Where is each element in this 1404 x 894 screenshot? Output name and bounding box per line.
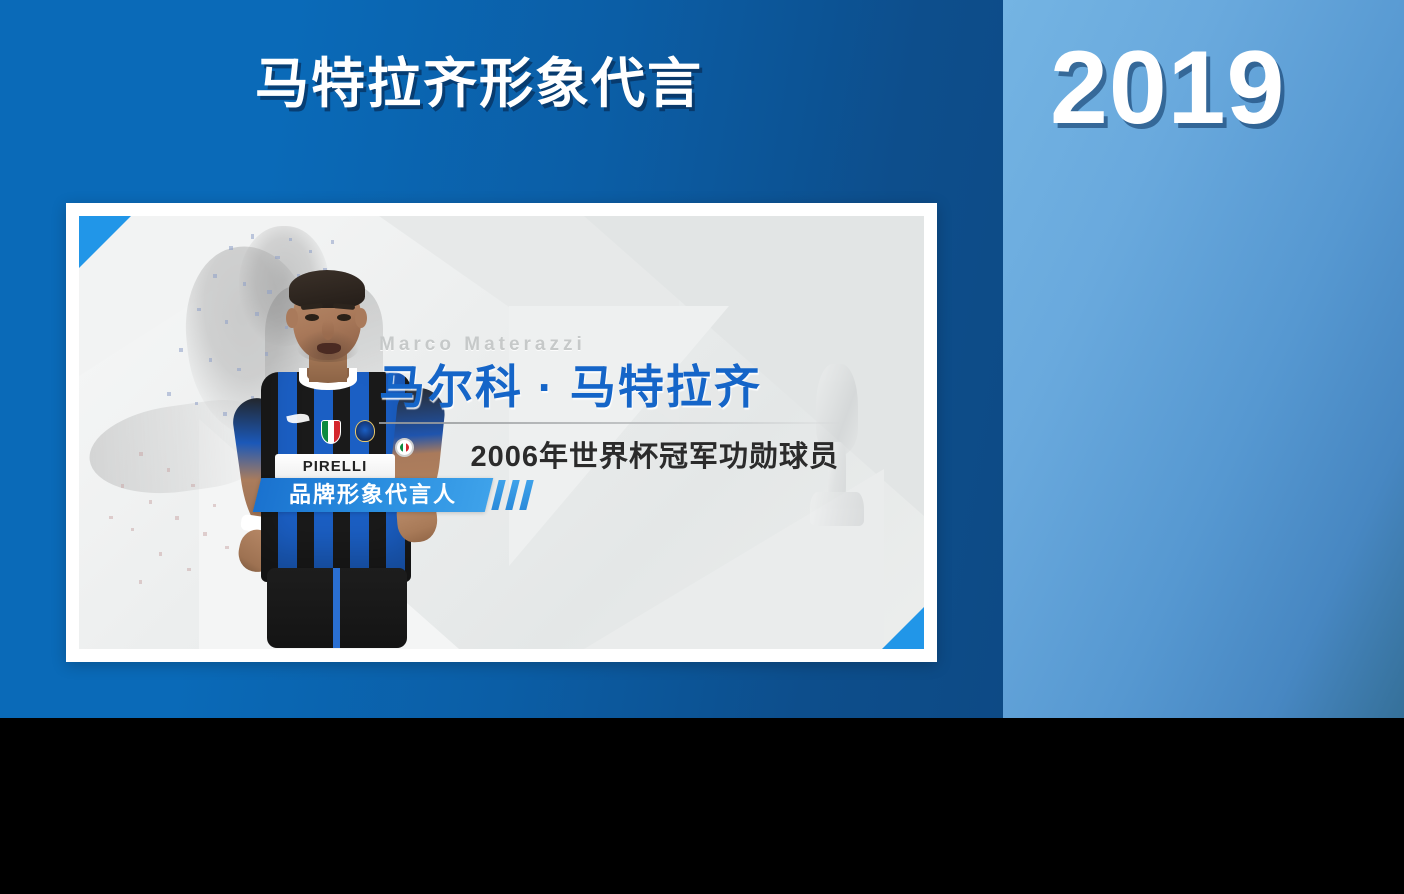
player-stubble — [297, 330, 359, 362]
player-eyebrow-left — [301, 303, 323, 310]
kit-brand-icon — [286, 412, 309, 425]
player-nose — [322, 320, 334, 340]
corner-accent-bottom-right-icon — [882, 607, 924, 649]
player-english-name: Marco Materazzi — [379, 334, 899, 356]
ribbon-slash-icon — [505, 480, 519, 510]
player-credential-subtitle: 2006年世界杯冠军功勋球员 — [379, 433, 839, 475]
player-eyebrow-right — [333, 303, 355, 310]
tagline-ribbon-group: 品牌形象代言人 — [257, 478, 577, 512]
player-ear-right — [355, 308, 367, 328]
player-shorts-stripe — [333, 568, 340, 648]
tagline-ribbon: 品牌形象代言人 — [253, 478, 493, 512]
ribbon-slash-icon — [519, 480, 533, 510]
ghost-figure-torso — [265, 286, 383, 466]
ribbon-slash-icon — [491, 480, 505, 510]
player-collar — [299, 368, 357, 390]
tagline-text: 品牌形象代言人 — [289, 478, 457, 512]
endorsement-image-card[interactable]: PIRELLI — [66, 203, 937, 662]
card-inner-canvas: PIRELLI — [79, 216, 924, 649]
jersey-sponsor-text: PIRELLI — [275, 454, 395, 480]
player-collar-inner — [307, 368, 349, 383]
year-label: 2019 — [1050, 36, 1285, 140]
trophy-base — [810, 492, 864, 526]
player-left-wristband — [240, 514, 274, 534]
player-eye-right — [337, 314, 351, 321]
player-chinese-name: 马尔科 · 马特拉齐 — [379, 362, 899, 414]
player-ear-left — [286, 308, 298, 328]
text-divider — [379, 422, 839, 424]
corner-accent-top-left-icon — [79, 216, 131, 268]
slide-headline: 马特拉齐形象代言 — [255, 57, 703, 111]
player-left-hand — [235, 527, 281, 576]
ghost-figure-head — [239, 226, 329, 346]
player-mouth — [317, 343, 341, 354]
presentation-slide: 马特拉齐形象代言 2019 — [0, 0, 1404, 894]
player-head — [293, 276, 361, 360]
player-eye-left — [305, 314, 319, 321]
card-text-block: Marco Materazzi 马尔科 · 马特拉齐 2006年世界杯冠军功勋球… — [379, 334, 899, 475]
ghost-figure-shouting — [177, 240, 326, 443]
player-shorts — [267, 568, 407, 648]
player-hair — [289, 270, 365, 308]
player-neck — [309, 352, 347, 382]
club-crest-icon — [355, 420, 375, 442]
ghost-figure-arm — [84, 394, 269, 504]
poly-facet — [584, 469, 884, 649]
scudetto-badge-icon — [321, 420, 341, 444]
